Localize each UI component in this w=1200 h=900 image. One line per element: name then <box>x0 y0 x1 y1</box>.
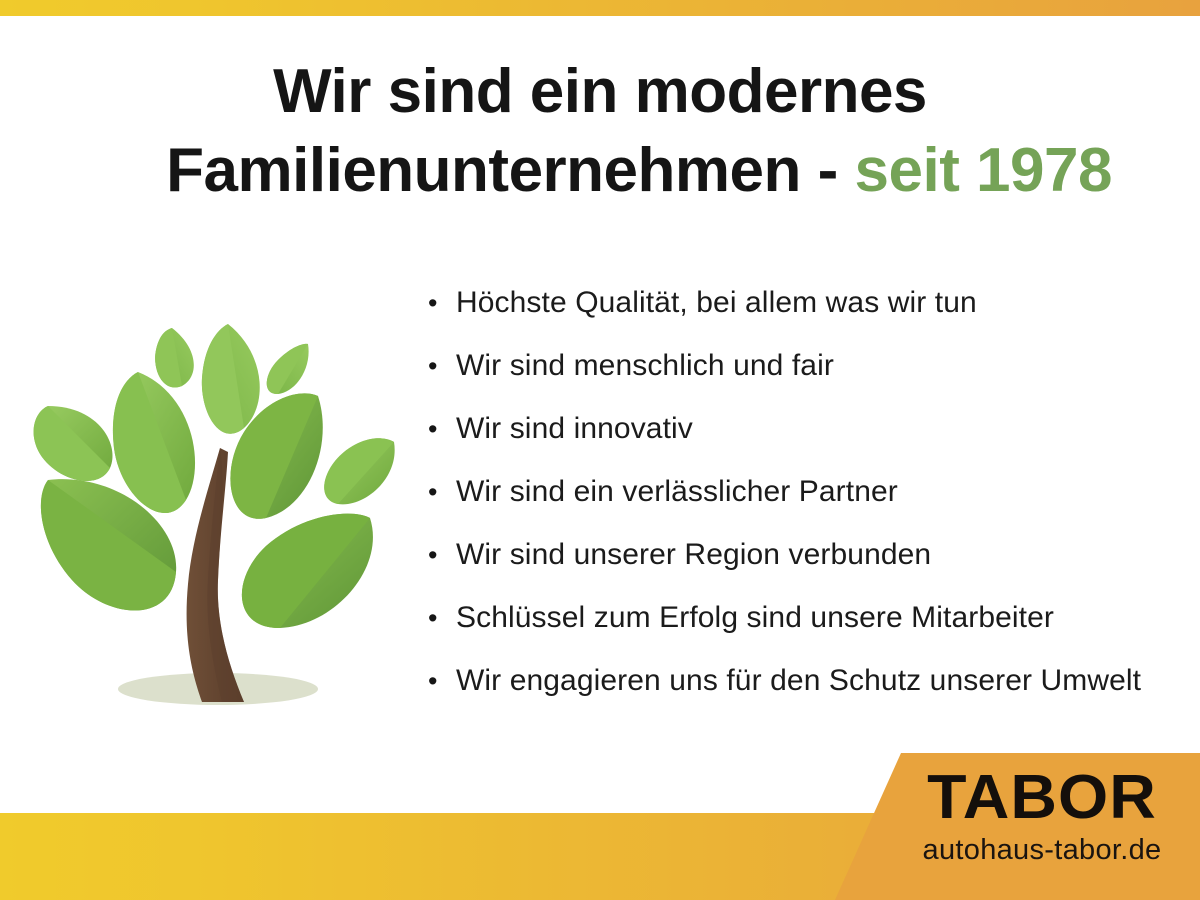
list-item: • Schlüssel zum Erfolg sind unsere Mitar… <box>428 601 1188 664</box>
headline-line-2-prefix: Familienunternehmen - <box>166 136 854 205</box>
list-item-label: Wir sind unserer Region verbunden <box>456 538 931 572</box>
list-item: • Höchste Qualität, bei allem was wir tu… <box>428 286 1188 349</box>
list-item: • Wir sind ein verlässlicher Partner <box>428 475 1188 538</box>
page-title: Wir sind ein modernes Familienunternehme… <box>60 52 1140 211</box>
list-item: • Wir sind innovativ <box>428 412 1188 475</box>
headline-line-2: Familienunternehmen - seit 1978 <box>60 131 1140 210</box>
list-item: • Wir engagieren uns für den Schutz unse… <box>428 664 1188 727</box>
bullet-marker-icon: • <box>428 605 456 632</box>
tabor-wordmark-text: TABOR <box>896 767 1187 829</box>
bullet-marker-icon: • <box>428 416 456 443</box>
bullet-marker-icon: • <box>428 542 456 569</box>
bullet-marker-icon: • <box>428 668 456 695</box>
list-item-label: Wir sind innovativ <box>456 412 693 446</box>
headline-accent-year: seit 1978 <box>855 136 1113 205</box>
tabor-wordmark: TABOR <box>902 767 1182 829</box>
bullet-marker-icon: • <box>428 479 456 506</box>
top-accent-bar <box>0 0 1200 16</box>
value-bullet-list: • Höchste Qualität, bei allem was wir tu… <box>428 286 1188 727</box>
list-item: • Wir sind menschlich und fair <box>428 349 1188 412</box>
bullet-marker-icon: • <box>428 353 456 380</box>
slide-canvas: Wir sind ein modernes Familienunternehme… <box>0 0 1200 900</box>
tree-illustration <box>22 302 418 718</box>
headline-line-1: Wir sind ein modernes <box>60 52 1140 131</box>
list-item: • Wir sind unserer Region verbunden <box>428 538 1188 601</box>
list-item-label: Wir sind menschlich und fair <box>456 349 834 383</box>
list-item-label: Wir sind ein verlässlicher Partner <box>456 475 898 509</box>
brand-tagline: autohaus-tabor.de <box>902 834 1182 867</box>
brand-logo-badge[interactable]: TABOR autohaus-tabor.de <box>835 753 1200 900</box>
list-item-label: Höchste Qualität, bei allem was wir tun <box>456 286 977 320</box>
list-item-label: Schlüssel zum Erfolg sind unsere Mitarbe… <box>456 601 1054 635</box>
list-item-label: Wir engagieren uns für den Schutz unsere… <box>456 664 1141 698</box>
brand-logo-content: TABOR autohaus-tabor.de <box>902 767 1182 867</box>
bullet-marker-icon: • <box>428 290 456 317</box>
